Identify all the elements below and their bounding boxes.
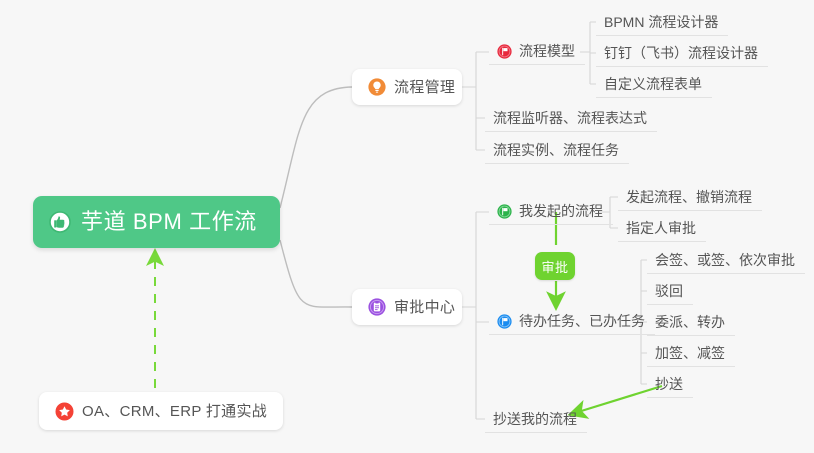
leaf-countersign-label: 会签、或签、依次审批 (655, 253, 795, 267)
flag-icon (497, 204, 512, 219)
clipboard-icon (368, 298, 386, 316)
leaf-custom-form[interactable]: 自定义流程表单 (596, 71, 712, 98)
lightbulb-icon (368, 78, 386, 96)
root-node-label: 芋道 BPM 工作流 (81, 211, 257, 233)
link-approval-spine (462, 212, 489, 419)
leaf-cc[interactable]: 抄送 (647, 371, 693, 398)
leaf-assignee-approval-label: 指定人审批 (626, 221, 696, 235)
leaf-cc-label: 抄送 (655, 377, 683, 391)
leaf-my-flow[interactable]: 我发起的流程 (489, 198, 613, 225)
branch-approval-center[interactable]: 审批中心 (352, 289, 462, 325)
thumbs-up-icon (49, 211, 71, 233)
star-icon (55, 402, 74, 421)
leaf-cc-my-flow-label: 抄送我的流程 (493, 412, 577, 426)
link-root-to-approval (280, 240, 352, 307)
leaf-instance-task-label: 流程实例、流程任务 (493, 143, 619, 157)
note-label: OA、CRM、ERP 打通实战 (82, 404, 267, 419)
branch-approval-center-label: 审批中心 (394, 300, 455, 315)
root-node[interactable]: 芋道 BPM 工作流 (33, 196, 280, 248)
leaf-add-remove-sign[interactable]: 加签、减签 (647, 340, 735, 367)
leaf-my-flow-label: 我发起的流程 (519, 204, 603, 218)
leaf-delegate-transfer[interactable]: 委派、转办 (647, 309, 735, 336)
leaf-dingtalk-designer[interactable]: 钉钉（飞书）流程设计器 (596, 40, 768, 67)
note-integration-practice[interactable]: OA、CRM、ERP 打通实战 (39, 392, 283, 430)
leaf-instance-task[interactable]: 流程实例、流程任务 (485, 137, 629, 164)
annotation-badge-approve: 审批 (535, 252, 575, 280)
leaf-process-model[interactable]: 流程模型 (489, 38, 585, 65)
leaf-bpmn-designer[interactable]: BPMN 流程设计器 (596, 9, 728, 36)
mindmap-canvas: 芋道 BPM 工作流 流程管理 审批中心 OA、CRM、ERP 打通实战 (0, 0, 814, 453)
link-process-spine (462, 52, 489, 150)
flag-icon (497, 44, 512, 59)
leaf-listener-expression[interactable]: 流程监听器、流程表达式 (485, 105, 657, 132)
leaf-custom-form-label: 自定义流程表单 (604, 77, 702, 91)
leaf-start-cancel-flow-label: 发起流程、撤销流程 (626, 190, 752, 204)
annotation-badge-approve-label: 审批 (541, 257, 568, 276)
branch-process-management[interactable]: 流程管理 (352, 69, 462, 105)
leaf-todo-done-tasks-label: 待办任务、已办任务 (519, 314, 645, 328)
leaf-todo-done-tasks[interactable]: 待办任务、已办任务 (489, 308, 655, 335)
leaf-add-remove-sign-label: 加签、减签 (655, 346, 725, 360)
leaf-bpmn-designer-label: BPMN 流程设计器 (604, 15, 718, 29)
leaf-listener-expression-label: 流程监听器、流程表达式 (493, 111, 647, 125)
flag-icon (497, 314, 512, 329)
leaf-assignee-approval[interactable]: 指定人审批 (618, 215, 706, 242)
leaf-process-model-label: 流程模型 (519, 44, 575, 58)
leaf-cc-my-flow[interactable]: 抄送我的流程 (485, 406, 587, 433)
leaf-dingtalk-designer-label: 钉钉（飞书）流程设计器 (604, 46, 758, 60)
leaf-reject[interactable]: 驳回 (647, 278, 693, 305)
leaf-reject-label: 驳回 (655, 284, 683, 298)
leaf-start-cancel-flow[interactable]: 发起流程、撤销流程 (618, 184, 762, 211)
link-root-to-process (280, 87, 352, 208)
branch-process-management-label: 流程管理 (394, 80, 455, 95)
leaf-countersign[interactable]: 会签、或签、依次审批 (647, 247, 805, 274)
leaf-delegate-transfer-label: 委派、转办 (655, 315, 725, 329)
